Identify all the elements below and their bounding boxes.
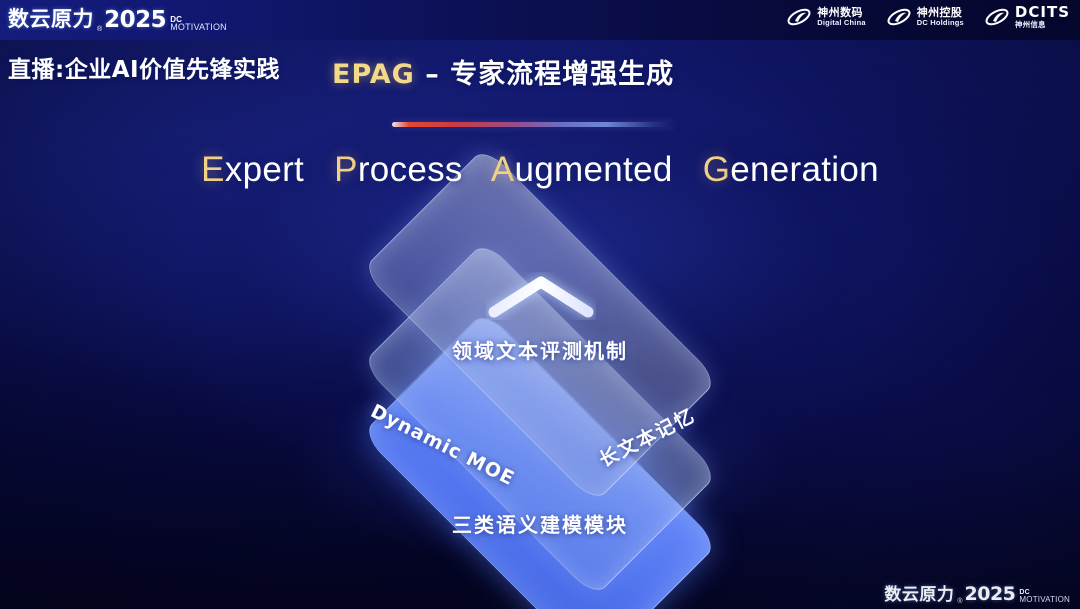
gradient-divider — [392, 122, 674, 127]
chevron-up-icon — [486, 272, 596, 320]
partner-logo-dc-holdings: 神州控股 DC Holdings — [886, 6, 964, 28]
partner-name-cn: 神州信息 — [1015, 21, 1070, 29]
page-title: EPAG – 专家流程增强生成 — [332, 52, 674, 91]
partner-name-cn: 神州控股 — [917, 7, 964, 19]
subtitle-word-expert: Expert — [201, 150, 304, 189]
partner-name-en: Digital China — [817, 19, 865, 27]
brand-logo-cn-text: 数云原力 — [884, 580, 954, 605]
subtitle-space — [683, 150, 693, 189]
registered-mark-icon: ® — [957, 598, 962, 605]
brand-logo-motivation: MOTIVATION — [170, 23, 227, 32]
partner-name-en: DC Holdings — [917, 19, 964, 27]
partner-logo-group: 神州数码 Digital China 神州控股 DC Holdings DCIT… — [786, 5, 1070, 29]
diagram-label-top: 领域文本评测机制 — [0, 335, 1080, 364]
swoosh-icon — [786, 6, 812, 28]
partner-logo-dcits: DCITS 神州信息 — [984, 5, 1070, 29]
subtitle-space — [473, 150, 483, 189]
live-stream-title: 直播:企业AI价值先锋实践 — [8, 50, 280, 84]
partner-name-en: DCITS — [1015, 5, 1070, 21]
headline-acronym: EPAG — [332, 59, 415, 90]
brand-logo-cn-text: 数云原力 — [8, 3, 94, 33]
headline-separator: – — [415, 59, 450, 90]
subtitle-word-process: Process — [334, 150, 463, 189]
diagram-label-bottom: 三类语义建模模块 — [0, 509, 1080, 538]
swoosh-icon — [886, 6, 912, 28]
partner-name-cn: 神州数码 — [817, 7, 865, 19]
headline-chinese: 专家流程增强生成 — [450, 59, 674, 90]
subtitle-word-augmented: Augmented — [491, 150, 673, 189]
brand-logo-motivation: MOTIVATION — [1019, 596, 1070, 604]
subtitle-word-generation: Generation — [703, 150, 879, 189]
subtitle-space — [314, 150, 324, 189]
brand-logo-top: 数云原力 ® 2025 DC MOTIVATION — [8, 3, 227, 33]
partner-logo-digital-china: 神州数码 Digital China — [786, 6, 865, 28]
slide-stage: 领域文本评测机制 Dynamic MOE 长文本记忆 三类语义建模模块 数云原力… — [0, 0, 1080, 609]
brand-logo-watermark: 数云原力 ® 2025 DC MOTIVATION — [884, 580, 1070, 605]
brand-logo-year: 2025 — [104, 7, 166, 33]
brand-logo-year: 2025 — [965, 583, 1016, 605]
swoosh-icon — [984, 6, 1010, 28]
epag-layer-diagram: 领域文本评测机制 Dynamic MOE 长文本记忆 三类语义建模模块 — [0, 0, 1080, 609]
page-subtitle: Expert Process Augmented Generation — [0, 150, 1080, 190]
registered-mark-icon: ® — [97, 26, 102, 33]
